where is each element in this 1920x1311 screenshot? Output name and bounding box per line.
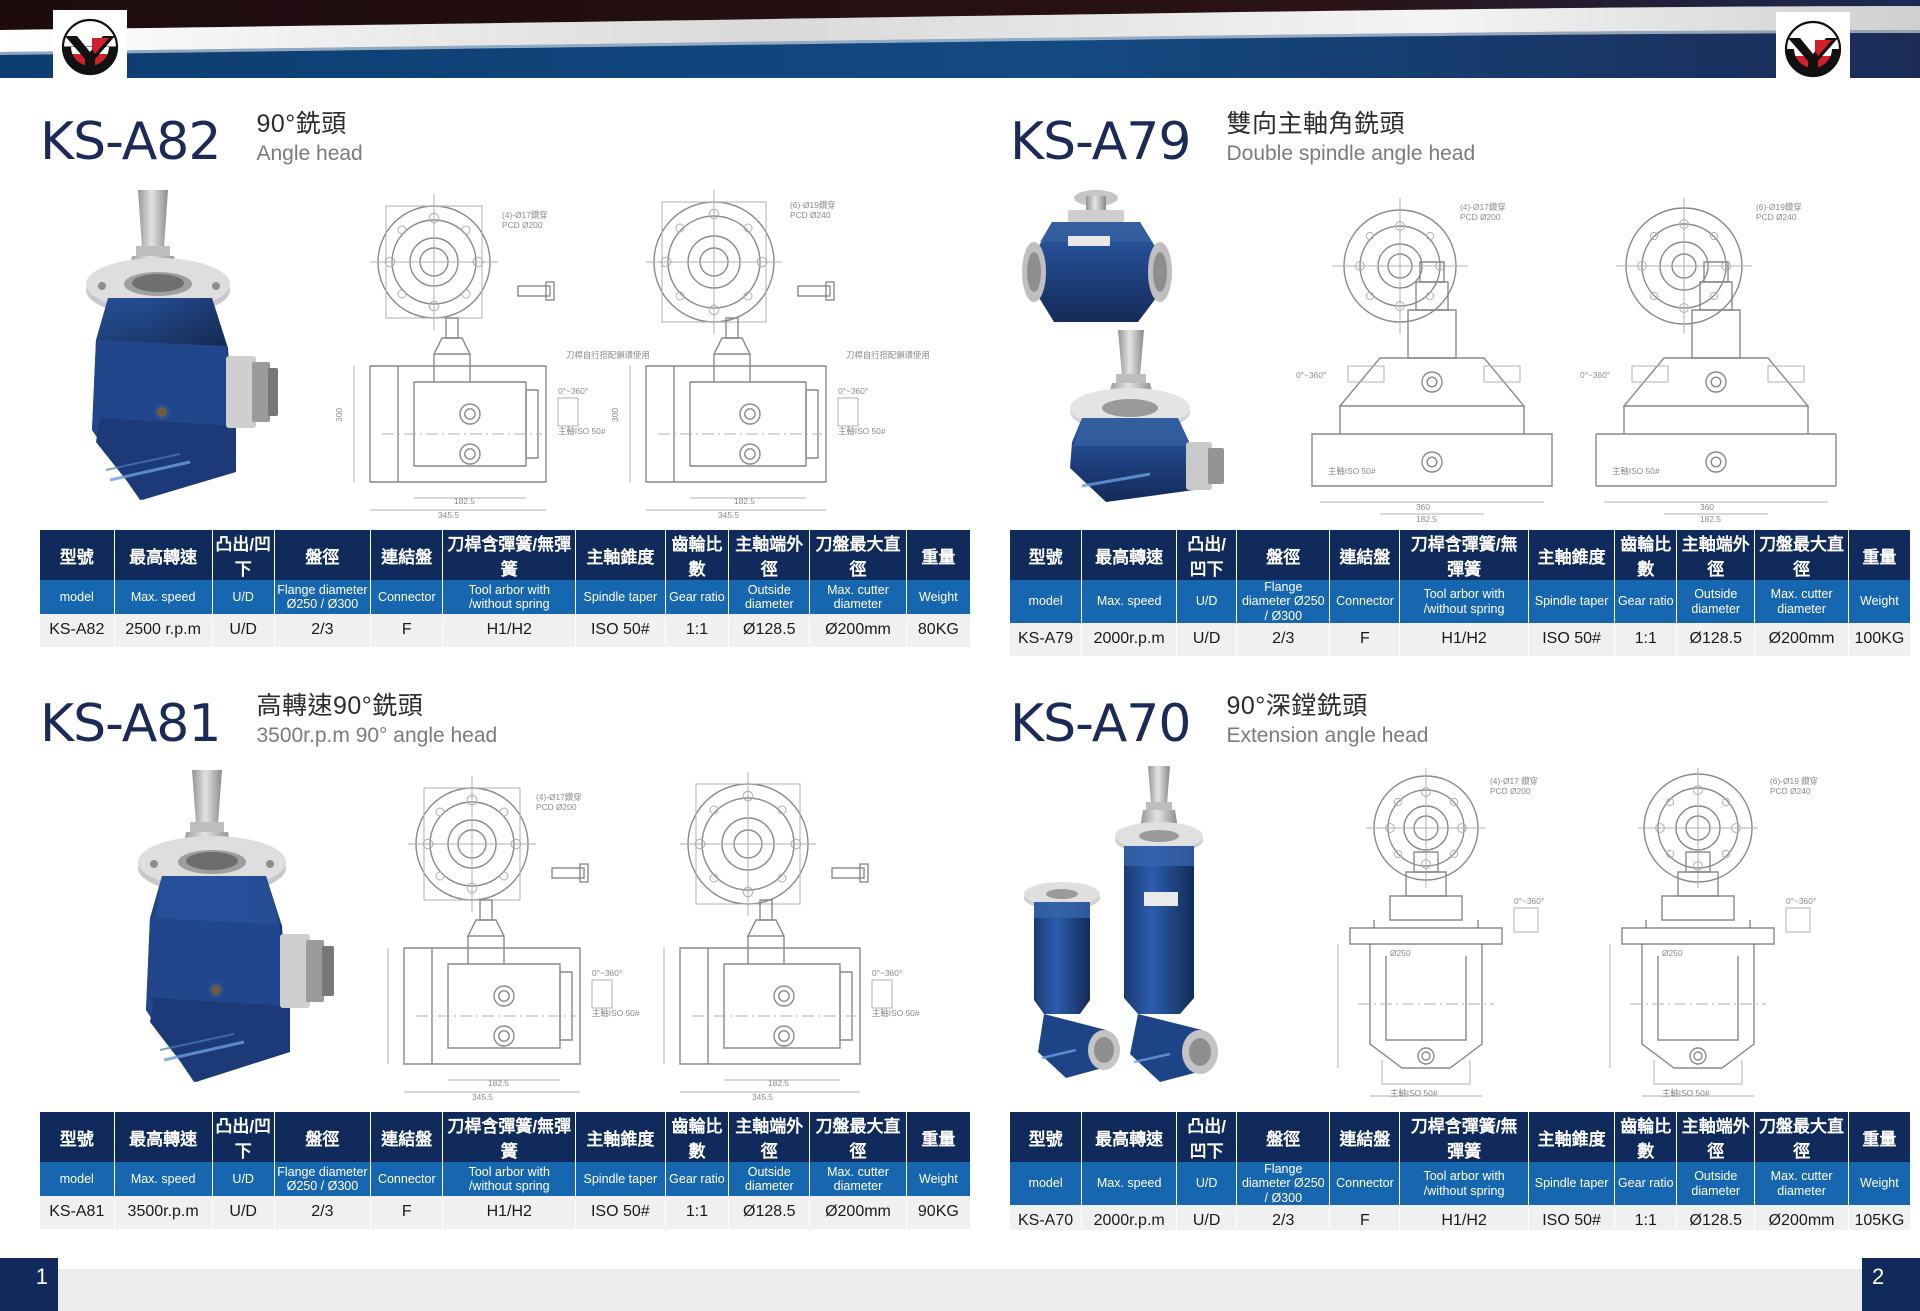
th-en-weight: Weight [906,1162,970,1196]
th-cn-connector: 連結盤 [1330,530,1400,580]
spec-table-ks-a79: 型號 最高轉速 凸出/凹下 盤徑 連結盤 刀桿含彈簧/無彈簧 主軸錐度 齒輪比數… [1010,530,1910,657]
th-cn-flange: 盤徑 [1237,1112,1330,1162]
th-en-tool-arbor: Tool arbor with /without spring [443,1162,576,1196]
th-en-connector: Connector [371,580,443,614]
th-en-tool-arbor: Tool arbor with /without spring [1400,580,1528,623]
dwg-label-pcd2: PCD Ø240 [1756,212,1797,222]
dwg-dim-1825: 182.5 [1416,514,1437,522]
ks-logo-right [1776,12,1850,86]
dwg-label-bolt1: (4)-Ø17鑽穿 [502,210,548,220]
footer-bar [0,1269,1920,1311]
th-cn-max-cutter: 刀盤最大直徑 [810,530,906,580]
dwg-dim-1825-r: 182.5 [734,496,755,506]
th-en-max-cutter: Max. cutter diameter [810,580,906,614]
th-en-tool-arbor: Tool arbor with /without spring [443,580,576,614]
cell-outside-dia: Ø128.5 [1677,623,1755,656]
dwg-iso-note: 主軸ISO 50# [592,1008,640,1018]
th-cn-spindle-taper: 主軸錐度 [1528,530,1615,580]
product-block-ks-a81: KS-A81 高轉速90°銑頭 3500r.p.m 90° angle head [40,678,970,1230]
dwg-iso-note-r: 主軸ISO 50# [1612,466,1660,476]
product-photo [1010,180,1250,510]
cell-spindle-taper: ISO 50# [576,1196,666,1229]
product-figure-area: (4)-Ø17鑽穿 PCD Ø200 182.5 345.5 182.5 345… [40,762,970,1112]
dwg-arbor-note-r: 刀桿自行搭配鎖環使用 [846,350,930,360]
dwg-iso-note-r: 主軸ISO 50# [872,1008,920,1018]
dwg-label-bolt1: (4)-Ø17鑽穿 [536,792,582,802]
th-cn-max-cutter: 刀盤最大直徑 [810,1112,906,1162]
th-en-model: model [40,580,114,614]
product-title-en: Double spindle angle head [1226,141,1475,166]
th-cn-connector: 連結盤 [1330,1112,1400,1162]
dwg-label-pcd1: PCD Ø200 [1490,786,1531,796]
dwg-iso-note: 主軸ISO 50# [1328,466,1376,476]
cell-model: KS-A79 [1010,623,1082,656]
product-model-code: KS-A81 [40,698,220,750]
th-en-max-speed: Max. speed [114,580,212,614]
th-cn-flange: 盤徑 [274,530,370,580]
dwg-iso-note-r: 主軸ISO 50# [838,426,886,436]
th-en-flange: Flange diameter Ø250 / Ø300 [1237,580,1330,623]
th-cn-outside-dia: 主軸端外徑 [1677,530,1755,580]
th-en-gear-ratio: Gear ratio [1615,580,1677,623]
dwg-rot-note-r: 0°~360° [838,386,868,396]
th-en-spindle-taper: Spindle taper [1528,580,1615,623]
dwg-rot-note: 0°~360° [558,386,588,396]
cell-gear-ratio: 1:1 [1615,623,1677,656]
th-cn-model: 型號 [40,530,114,580]
product-title-row: KS-A70 90°深鏜銑頭 Extension angle head [1010,678,1910,750]
th-cn-model: 型號 [1010,530,1082,580]
dwg-label-bolt2: (6)-Ø19 鑽穿 [1770,776,1818,786]
cell-tool-arbor: H1/H2 [1400,623,1528,656]
th-en-ud: U/D [212,1162,274,1196]
cell-ud: U/D [212,1196,274,1229]
dwg-label-bolt2: (6)-Ø19鑽穿 [790,200,836,210]
th-cn-outside-dia: 主軸端外徑 [1677,1112,1755,1162]
product-block-ks-a82: KS-A82 90°銑頭 Angle head [40,96,970,648]
th-en-ud: U/D [212,580,274,614]
th-en-outside-dia: Outside diameter [729,1162,810,1196]
dwg-rot-note-r: 0°~360° [1580,370,1610,380]
dwg-label-bolt1: (4)-Ø17 鑽穿 [1490,776,1538,786]
product-title-row: KS-A79 雙向主軸角銑頭 Double spindle angle head [1010,96,1910,168]
product-title-cn: 90°深鏜銑頭 [1226,692,1428,721]
cell-max-cutter: Ø200mm [810,1196,906,1229]
th-cn-max-cutter: 刀盤最大直徑 [1755,1112,1848,1162]
spec-header-en: model Max. speed U/D Flange diameter Ø25… [40,1162,970,1196]
th-en-flange: Flange diameter Ø250 / Ø300 [274,580,370,614]
th-cn-model: 型號 [1010,1112,1082,1162]
dwg-label-bolt1: (4)-Ø17鑽穿 [1460,202,1506,212]
th-cn-max-speed: 最高轉速 [1082,1112,1177,1162]
page-number-right: 2 [1862,1258,1920,1311]
cell-max-cutter: Ø200mm [810,614,906,647]
product-photo [1010,762,1260,1092]
th-en-tool-arbor: Tool arbor with /without spring [1400,1162,1528,1205]
cell-max-speed: 3500r.p.m [114,1196,212,1229]
th-en-flange: Flange diameter Ø250 / Ø300 [1237,1162,1330,1205]
dwg-iso-note-r: 主軸ISO 50# [1662,1088,1710,1098]
dwg-dia-250: Ø250 [1390,948,1411,958]
product-model-code: KS-A79 [1010,116,1190,168]
th-cn-tool-arbor: 刀桿含彈簧/無彈簧 [443,1112,576,1162]
th-cn-max-speed: 最高轉速 [114,530,212,580]
th-en-max-speed: Max. speed [114,1162,212,1196]
th-cn-outside-dia: 主軸端外徑 [729,530,810,580]
table-row: KS-A81 3500r.p.m U/D 2/3 F H1/H2 ISO 50#… [40,1196,970,1229]
th-en-model: model [1010,580,1082,623]
spec-header-en: model Max. speed U/D Flange diameter Ø25… [40,580,970,614]
product-block-ks-a70: KS-A70 90°深鏜銑頭 Extension angle head [1010,678,1910,1239]
dwg-label-pcd1: PCD Ø200 [536,802,577,812]
dwg-rot-note: 0°~360° [1514,896,1544,906]
cell-model: KS-A81 [40,1196,114,1229]
dwg-iso-note: 主軸ISO 50# [1390,1088,1438,1098]
cell-flange: 2/3 [274,614,370,647]
dwg-rot-note: 0°~360° [1296,370,1326,380]
cell-connector: F [371,1196,443,1229]
spec-table-ks-a70: 型號 最高轉速 凸出/凹下 盤徑 連結盤 刀桿含彈簧/無彈簧 主軸錐度 齒輪比數… [1010,1112,1910,1239]
th-cn-spindle-taper: 主軸錐度 [1528,1112,1615,1162]
th-en-max-speed: Max. speed [1082,580,1177,623]
spec-table-ks-a81: 型號 最高轉速 凸出/凹下 盤徑 連結盤 刀桿含彈簧/無彈簧 主軸錐度 齒輪比數… [40,1112,970,1230]
dwg-rot-note-r: 0°~360° [872,968,902,978]
product-photo [40,180,300,510]
th-en-model: model [1010,1162,1082,1205]
th-cn-spindle-taper: 主軸錐度 [576,1112,666,1162]
th-en-ud: U/D [1177,580,1237,623]
th-cn-flange: 盤徑 [1237,530,1330,580]
th-en-ud: U/D [1177,1162,1237,1205]
dwg-dia-250-r: Ø250 [1662,948,1683,958]
catalog-sheet: KS-A82 90°銑頭 Angle head [0,78,1920,1230]
th-cn-spindle-taper: 主軸錐度 [576,530,666,580]
th-en-gear-ratio: Gear ratio [665,1162,729,1196]
product-title-cn: 雙向主軸角銑頭 [1226,110,1475,139]
th-cn-model: 型號 [40,1112,114,1162]
dwg-dim-3455-r: 345.5 [718,510,739,520]
product-photo [100,762,365,1092]
ks-logo-icon [59,16,121,78]
cell-connector: F [1330,623,1400,656]
th-en-outside-dia: Outside diameter [729,580,810,614]
cell-max-speed: 2500 r.p.m [114,614,212,647]
spec-header-cn: 型號 最高轉速 凸出/凹下 盤徑 連結盤 刀桿含彈簧/無彈簧 主軸錐度 齒輪比數… [40,530,970,580]
th-cn-connector: 連結盤 [371,530,443,580]
th-cn-gear-ratio: 齒輪比數 [1615,1112,1677,1162]
cell-max-cutter: Ø200mm [1755,623,1848,656]
technical-drawings: (4)-Ø17 鑽穿 PCD Ø200 (6)-Ø19 鑽穿 PCD Ø240 … [1270,764,1910,1104]
th-cn-ud: 凸出/凹下 [212,1112,274,1162]
th-en-max-cutter: Max. cutter diameter [810,1162,906,1196]
cell-gear-ratio: 1:1 [665,1196,729,1229]
product-title-row: KS-A82 90°銑頭 Angle head [40,96,970,168]
dwg-dim-1825: 182.5 [488,1078,509,1088]
th-en-weight: Weight [1848,580,1910,623]
cell-tool-arbor: H1/H2 [443,614,576,647]
dwg-arbor-note: 刀桿自行搭配鎖環使用 [566,350,650,360]
th-en-spindle-taper: Spindle taper [576,1162,666,1196]
dwg-dim-3455: 345.5 [438,510,459,520]
cell-gear-ratio: 1:1 [665,614,729,647]
cell-weight: 80KG [906,614,970,647]
th-en-flange: Flange diameter Ø250 / Ø300 [274,1162,370,1196]
product-title-cn: 90°銑頭 [256,110,362,139]
th-en-weight: Weight [1848,1162,1910,1205]
spec-header-en: model Max. speed U/D Flange diameter Ø25… [1010,580,1910,623]
th-cn-gear-ratio: 齒輪比數 [665,530,729,580]
cell-spindle-taper: ISO 50# [576,614,666,647]
th-en-max-speed: Max. speed [1082,1162,1177,1205]
cell-outside-dia: Ø128.5 [729,614,810,647]
th-cn-flange: 盤徑 [274,1112,370,1162]
product-model-code: KS-A82 [40,116,220,168]
product-block-ks-a79: KS-A79 雙向主軸角銑頭 Double spindle angle head [1010,96,1910,657]
cell-flange: 2/3 [1237,623,1330,656]
th-cn-tool-arbor: 刀桿含彈簧/無彈簧 [1400,1112,1528,1162]
th-en-spindle-taper: Spindle taper [576,580,666,614]
th-cn-tool-arbor: 刀桿含彈簧/無彈簧 [1400,530,1528,580]
th-cn-weight: 重量 [1848,530,1910,580]
th-en-weight: Weight [906,580,970,614]
cell-spindle-taper: ISO 50# [1528,623,1615,656]
table-row: KS-A82 2500 r.p.m U/D 2/3 F H1/H2 ISO 50… [40,614,970,647]
th-en-model: model [40,1162,114,1196]
product-title-en: Extension angle head [1226,723,1428,748]
dwg-dim-1825: 182.5 [454,496,475,506]
ks-logo-left [53,10,127,84]
product-figure-area: (4)-Ø17鑽穿 PCD Ø200 (6)-Ø19鑽穿 PCD Ø240 18… [40,180,970,530]
page-number-left: 1 [0,1258,58,1311]
dwg-rot-note: 0°~360° [592,968,622,978]
th-cn-weight: 重量 [1848,1112,1910,1162]
spec-header-cn: 型號 最高轉速 凸出/凹下 盤徑 連結盤 刀桿含彈簧/無彈簧 主軸錐度 齒輪比數… [1010,530,1910,580]
technical-drawings: (4)-Ø17鑽穿 PCD Ø200 182.5 345.5 182.5 345… [340,764,970,1104]
dwg-dim-3455-r: 345.5 [752,1092,773,1102]
dwg-label-pcd1: PCD Ø200 [1460,212,1501,222]
th-en-connector: Connector [1330,580,1400,623]
technical-drawings: (4)-Ø17鑽穿 PCD Ø200 (6)-Ø19鑽穿 PCD Ø240 36… [1260,182,1910,522]
dwg-dim-300: 300 [334,408,344,422]
th-cn-connector: 連結盤 [371,1112,443,1162]
product-title-en: Angle head [256,141,362,166]
product-figure-area: (4)-Ø17鑽穿 PCD Ø200 (6)-Ø19鑽穿 PCD Ø240 36… [1010,180,1910,530]
spec-header-cn: 型號 最高轉速 凸出/凹下 盤徑 連結盤 刀桿含彈簧/無彈簧 主軸錐度 齒輪比數… [1010,1112,1910,1162]
dwg-rot-note-r: 0°~360° [1786,896,1816,906]
dwg-label-pcd2: PCD Ø240 [1770,786,1811,796]
th-en-connector: Connector [1330,1162,1400,1205]
th-en-outside-dia: Outside diameter [1677,1162,1755,1205]
th-cn-max-speed: 最高轉速 [114,1112,212,1162]
technical-drawings: (4)-Ø17鑽穿 PCD Ø200 (6)-Ø19鑽穿 PCD Ø240 18… [310,182,970,522]
page-footer: 1 2 [0,1230,1920,1311]
dwg-dim-360: 360 [1416,502,1430,512]
th-cn-weight: 重量 [906,530,970,580]
cell-weight: 90KG [906,1196,970,1229]
spec-table-ks-a82: 型號 最高轉速 凸出/凹下 盤徑 連結盤 刀桿含彈簧/無彈簧 主軸錐度 齒輪比數… [40,530,970,648]
th-en-gear-ratio: Gear ratio [1615,1162,1677,1205]
cell-ud: U/D [1177,623,1237,656]
th-en-connector: Connector [371,1162,443,1196]
ks-logo-icon [1782,18,1844,80]
th-en-max-cutter: Max. cutter diameter [1755,580,1848,623]
dwg-iso-note: 主軸ISO 50# [558,426,606,436]
product-title-row: KS-A81 高轉速90°銑頭 3500r.p.m 90° angle head [40,678,970,750]
th-cn-ud: 凸出/凹下 [212,530,274,580]
dwg-label-pcd2: PCD Ø240 [790,210,831,220]
cell-connector: F [371,614,443,647]
dwg-dim-1825-r: 182.5 [1700,514,1721,522]
th-cn-weight: 重量 [906,1112,970,1162]
product-figure-area: (4)-Ø17 鑽穿 PCD Ø200 (6)-Ø19 鑽穿 PCD Ø240 … [1010,762,1910,1112]
cell-ud: U/D [212,614,274,647]
dwg-dim-3455: 345.5 [472,1092,493,1102]
th-cn-ud: 凸出/凹下 [1177,530,1237,580]
dwg-dim-1825-r: 182.5 [768,1078,789,1088]
cell-flange: 2/3 [274,1196,370,1229]
product-title-cn: 高轉速90°銑頭 [256,692,497,721]
spec-header-en: model Max. speed U/D Flange diameter Ø25… [1010,1162,1910,1205]
dwg-label-bolt2: (6)-Ø19鑽穿 [1756,202,1802,212]
spec-header-cn: 型號 最高轉速 凸出/凹下 盤徑 連結盤 刀桿含彈簧/無彈簧 主軸錐度 齒輪比數… [40,1112,970,1162]
product-model-code: KS-A70 [1010,698,1190,750]
cell-tool-arbor: H1/H2 [443,1196,576,1229]
cell-model: KS-A82 [40,614,114,647]
table-row: KS-A79 2000r.p.m U/D 2/3 F H1/H2 ISO 50#… [1010,623,1910,656]
th-en-max-cutter: Max. cutter diameter [1755,1162,1848,1205]
th-cn-tool-arbor: 刀桿含彈簧/無彈簧 [443,530,576,580]
dwg-dim-360-r: 360 [1700,502,1714,512]
th-cn-outside-dia: 主軸端外徑 [729,1112,810,1162]
cell-outside-dia: Ø128.5 [729,1196,810,1229]
th-cn-gear-ratio: 齒輪比數 [665,1112,729,1162]
header-banner [0,0,1920,78]
th-cn-max-cutter: 刀盤最大直徑 [1755,530,1848,580]
cell-weight: 100KG [1848,623,1910,656]
dwg-dim-300-r: 300 [610,408,620,422]
th-en-gear-ratio: Gear ratio [665,580,729,614]
th-cn-ud: 凸出/凹下 [1177,1112,1237,1162]
th-en-outside-dia: Outside diameter [1677,580,1755,623]
product-title-en: 3500r.p.m 90° angle head [256,723,497,748]
th-cn-max-speed: 最高轉速 [1082,530,1177,580]
cell-max-speed: 2000r.p.m [1082,623,1177,656]
dwg-label-pcd1: PCD Ø200 [502,220,543,230]
th-en-spindle-taper: Spindle taper [1528,1162,1615,1205]
th-cn-gear-ratio: 齒輪比數 [1615,530,1677,580]
